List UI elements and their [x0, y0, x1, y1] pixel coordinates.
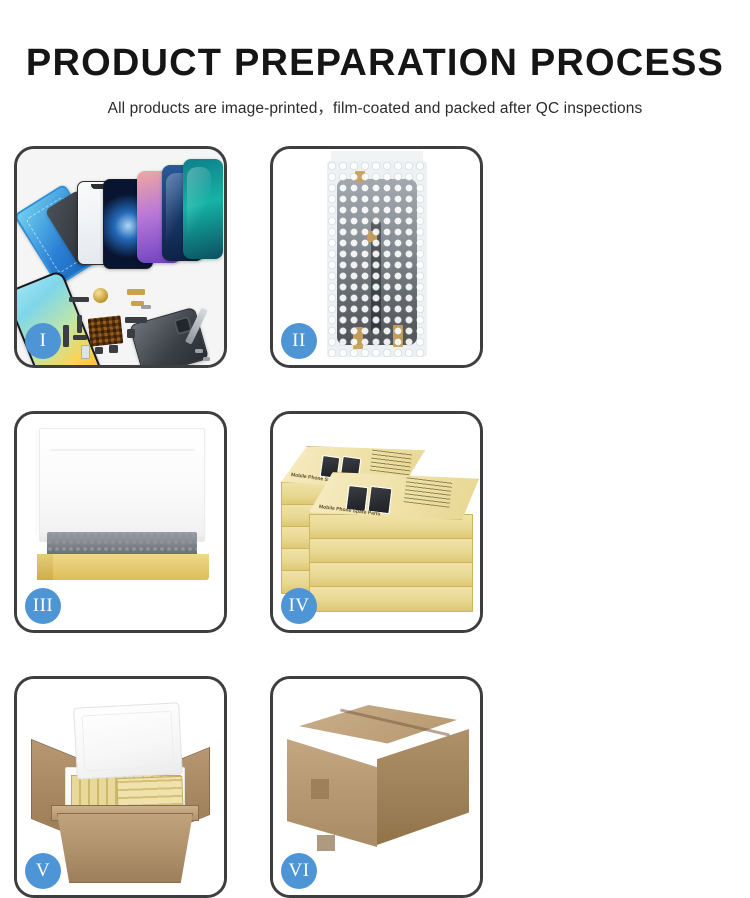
spare-part	[69, 297, 89, 302]
spare-part	[195, 349, 203, 353]
box-text-block	[370, 449, 412, 476]
stacked-box	[309, 586, 473, 612]
stacked-box	[309, 538, 473, 564]
stacked-box-top	[309, 472, 479, 520]
bubble-wrap-bag	[327, 161, 427, 357]
spare-part	[203, 357, 210, 361]
sealed-carton	[287, 705, 469, 863]
step-badge-5: V	[25, 853, 61, 889]
process-step-panel-6[interactable]: VI	[270, 676, 483, 898]
process-step-panel-2[interactable]: II	[270, 146, 483, 368]
process-step-grid: I II III	[14, 146, 737, 898]
spare-part	[95, 347, 103, 354]
process-step-panel-4[interactable]: Mobile Phone Spare Parts Mobile Phone Sp…	[270, 411, 483, 633]
carton-body	[57, 813, 193, 883]
teal-phone-graphic	[183, 159, 223, 259]
bubble-texture	[327, 161, 427, 357]
page-subtitle: All products are image-printed，film-coat…	[0, 84, 750, 118]
carton-right-face	[377, 729, 469, 845]
spare-part	[125, 317, 147, 323]
yellow-box-front	[37, 554, 209, 580]
foam-box-lid	[73, 702, 183, 779]
step-badge-4: IV	[281, 588, 317, 624]
carton-left-face	[287, 739, 377, 847]
spare-part	[73, 335, 87, 340]
step-badge-2: II	[281, 323, 317, 359]
carton-tape-mark	[311, 779, 329, 799]
step-badge-6: VI	[281, 853, 317, 889]
spare-part	[81, 345, 90, 359]
spare-part	[77, 315, 82, 333]
spare-part	[109, 345, 118, 353]
spare-part	[63, 325, 69, 347]
carton-tape-mark	[317, 835, 335, 851]
process-step-panel-1[interactable]: I	[14, 146, 227, 368]
process-step-panel-3[interactable]: III	[14, 411, 227, 633]
page-title: PRODUCT PREPARATION PROCESS	[0, 0, 750, 84]
spare-part	[127, 289, 145, 295]
box-lid	[39, 428, 205, 542]
box-text-block	[404, 476, 453, 507]
spare-part	[127, 329, 135, 338]
chip-grid-part	[88, 315, 124, 346]
spare-part	[141, 305, 151, 309]
step-badge-3: III	[25, 588, 61, 624]
header: PRODUCT PREPARATION PROCESS All products…	[0, 0, 750, 118]
vibration-motor-part	[93, 288, 108, 303]
process-step-panel-5[interactable]: V	[14, 676, 227, 898]
step-badge-1: I	[25, 323, 61, 359]
stacked-box	[309, 562, 473, 588]
